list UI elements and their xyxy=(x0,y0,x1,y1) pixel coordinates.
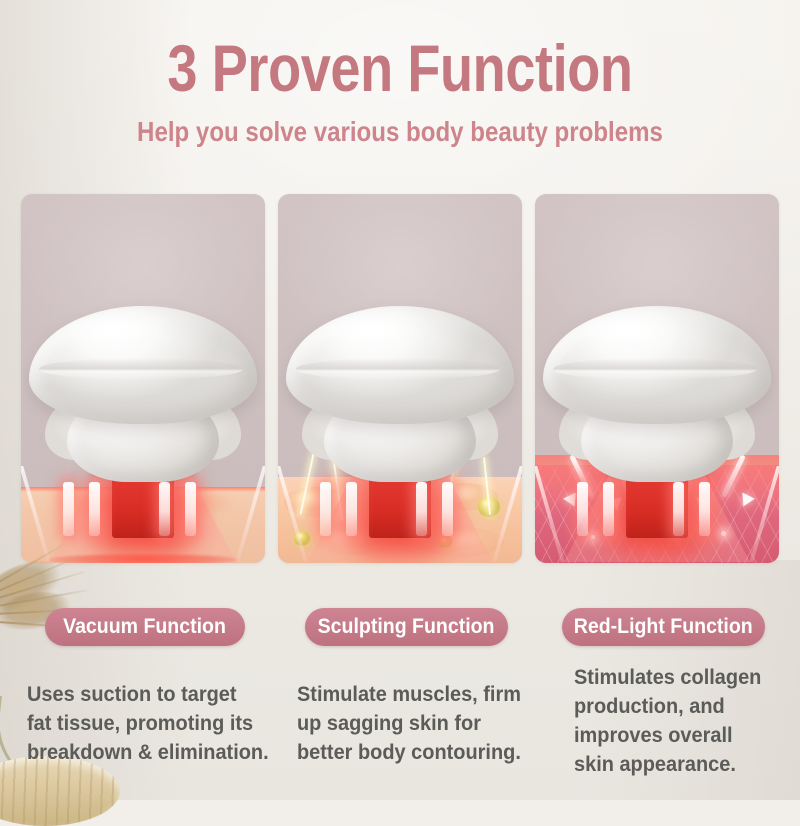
description-line: breakdown & elimination. xyxy=(27,738,265,767)
feature-image-panel-red-light[interactable] xyxy=(535,194,779,563)
led-strip xyxy=(416,482,427,536)
badge-label: Vacuum Function xyxy=(64,608,227,646)
dome-seam xyxy=(553,358,757,380)
dome-seam xyxy=(39,358,243,380)
description-vacuum-function: Uses suction to target fat tissue, promo… xyxy=(27,680,277,767)
led-strip xyxy=(346,482,357,536)
header: 3 Proven Function Help you solve various… xyxy=(0,0,800,148)
feature-badge-row: Vacuum Function Sculpting Function Red-L… xyxy=(0,608,800,646)
dome-seam xyxy=(296,358,500,380)
massager-device-icon xyxy=(27,306,259,556)
description-sculpting-function: Stimulate muscles, firm up sagging skin … xyxy=(297,680,547,767)
description-red-light-function: Stimulates collagen production, and impr… xyxy=(574,663,800,779)
feature-image-panel-vacuum[interactable] xyxy=(21,194,265,563)
dome-highlight xyxy=(316,314,446,354)
description-line: skin appearance. xyxy=(574,750,793,779)
badge-label: Red-Light Function xyxy=(574,608,753,646)
feature-image-panel-sculpting[interactable] xyxy=(278,194,522,563)
description-line: Uses suction to target xyxy=(27,680,265,709)
description-line: fat tissue, promoting its xyxy=(27,709,265,738)
dome-highlight xyxy=(59,314,189,354)
led-strip xyxy=(442,482,453,536)
led-strip xyxy=(159,482,170,536)
led-strip xyxy=(673,482,684,536)
page-subtitle: Help you solve various body beauty probl… xyxy=(56,102,744,148)
feature-image-row xyxy=(21,194,785,563)
massager-device-icon xyxy=(541,306,773,556)
dome-highlight xyxy=(573,314,703,354)
description-line: up sagging skin for xyxy=(297,709,535,738)
cup-contact-glow xyxy=(48,554,238,563)
badge-label: Sculpting Function xyxy=(318,608,495,646)
feature-description-row: Uses suction to target fat tissue, promo… xyxy=(0,658,800,778)
description-line: better body contouring. xyxy=(297,738,535,767)
led-strip xyxy=(89,482,100,536)
led-strip xyxy=(320,482,331,536)
badge-red-light-function[interactable]: Red-Light Function xyxy=(562,608,765,646)
led-strip xyxy=(185,482,196,536)
description-line: Stimulate muscles, firm xyxy=(297,680,535,709)
badge-sculpting-function[interactable]: Sculpting Function xyxy=(305,608,508,646)
led-strip xyxy=(699,482,710,536)
description-line: Stimulates collagen xyxy=(574,663,793,692)
description-line: production, and xyxy=(574,692,793,721)
description-line: improves overall xyxy=(574,721,793,750)
led-strip xyxy=(577,482,588,536)
badge-vacuum-function[interactable]: Vacuum Function xyxy=(45,608,245,646)
page-title: 3 Proven Function xyxy=(72,0,728,102)
led-strip xyxy=(63,482,74,536)
led-strip xyxy=(603,482,614,536)
massager-device-icon xyxy=(284,306,516,556)
